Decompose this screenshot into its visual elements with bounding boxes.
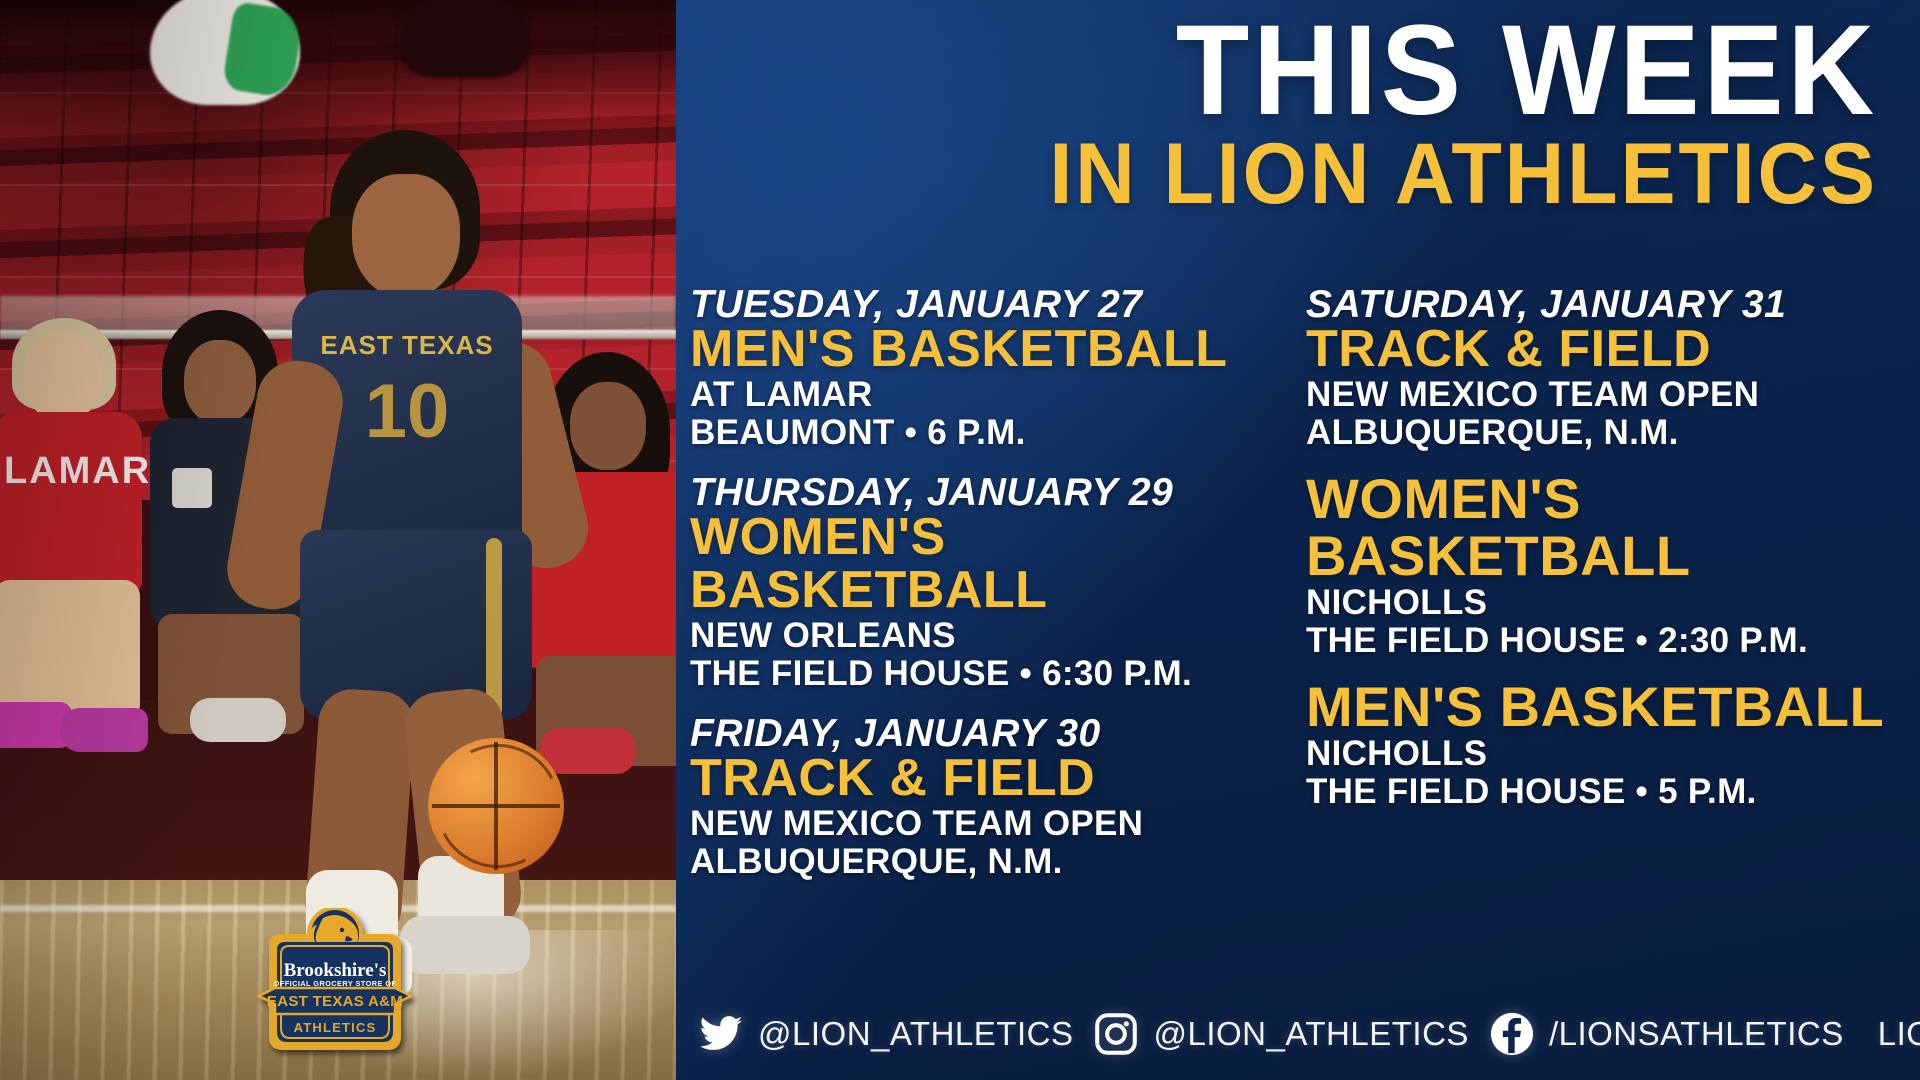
social-footer: @LION_ATHLETICS @LION_ATHLETICS / (676, 988, 1920, 1080)
event-item: TUESDAY, JANUARY 27 MEN'S BASKETBALL AT … (690, 284, 1288, 452)
event-item: THURSDAY, JANUARY 29 WOMEN'S BASKETBALL … (690, 472, 1288, 693)
twitter-handle: @LION_ATHLETICS (758, 1015, 1073, 1053)
event-item: FRIDAY, JANUARY 30 TRACK & FIELD NEW MEX… (690, 713, 1288, 881)
event-item: SATURDAY, JANUARY 31 TRACK & FIELD NEW M… (1306, 284, 1904, 452)
event-sport: WOMEN'S BASKETBALL (690, 511, 1288, 617)
headline-block: THIS WEEK IN LION ATHLETICS (676, 6, 1878, 217)
instagram-camera-icon[interactable] (1093, 1011, 1139, 1057)
schedule-columns: TUESDAY, JANUARY 27 MEN'S BASKETBALL AT … (690, 284, 1904, 901)
badge-school: EAST TEXAS A&M (267, 993, 403, 1010)
event-sport: MEN'S BASKETBALL (690, 323, 1288, 376)
twitter-bird-icon[interactable] (698, 1011, 744, 1057)
event-sport: MEN'S BASKETBALL (1306, 678, 1904, 735)
instagram-handle: @LION_ATHLETICS (1153, 1015, 1468, 1053)
schedule-panel: THIS WEEK IN LION ATHLETICS TUESDAY, JAN… (676, 0, 1920, 1080)
badge-division: ATHLETICS (294, 1020, 377, 1035)
badge-tagline: OFFICIAL GROCERY STORE OF (274, 979, 397, 988)
event-opponent: NEW MEXICO TEAM OPEN (1306, 376, 1904, 414)
event-sport: TRACK & FIELD (690, 752, 1288, 805)
headline-primary: THIS WEEK (748, 6, 1878, 137)
event-opponent: NICHOLLS (1306, 735, 1904, 773)
instagram-link[interactable]: @LION_ATHLETICS (1093, 1011, 1468, 1057)
event-sport: TRACK & FIELD (1306, 323, 1904, 376)
sponsor-badge: Brookshire's OFFICIAL GROCERY STORE OF E… (245, 908, 425, 1074)
facebook-handle: /LIONSATHLETICS (1549, 1015, 1844, 1053)
event-item: MEN'S BASKETBALL NICHOLLS THE FIELD HOUS… (1306, 678, 1904, 811)
headline-secondary: IN LION ATHLETICS (724, 131, 1878, 217)
facebook-link[interactable]: /LIONSATHLETICS (1489, 1011, 1844, 1057)
schedule-column-left: TUESDAY, JANUARY 27 MEN'S BASKETBALL AT … (690, 284, 1288, 901)
graphic-canvas: LAMAR EAST TEXAS (0, 0, 1920, 1080)
badge-brand: Brookshire's (284, 960, 387, 981)
schedule-column-right: SATURDAY, JANUARY 31 TRACK & FIELD NEW M… (1306, 284, 1904, 901)
event-venue-time: THE FIELD HOUSE • 6:30 P.M. (690, 655, 1288, 693)
event-venue-time: BEAUMONT • 6 P.M. (690, 414, 1288, 452)
event-venue-time: THE FIELD HOUSE • 2:30 P.M. (1306, 622, 1904, 660)
brookshires-badge-svg: Brookshire's OFFICIAL GROCERY STORE OF E… (245, 908, 425, 1074)
event-venue-time: ALBUQUERQUE, N.M. (690, 843, 1288, 881)
facebook-f-icon[interactable] (1489, 1011, 1535, 1057)
event-venue-time: ALBUQUERQUE, N.M. (1306, 414, 1904, 452)
event-sport: WOMEN'S BASKETBALL (1306, 470, 1904, 584)
event-opponent: NEW ORLEANS (690, 617, 1288, 655)
event-item: WOMEN'S BASKETBALL NICHOLLS THE FIELD HO… (1306, 470, 1904, 660)
event-opponent: NICHOLLS (1306, 584, 1904, 622)
event-venue-time: THE FIELD HOUSE • 5 P.M. (1306, 773, 1904, 811)
event-opponent: AT LAMAR (690, 376, 1288, 414)
website-url[interactable]: LIONATHLETICS.COM (1878, 1015, 1920, 1053)
event-opponent: NEW MEXICO TEAM OPEN (690, 805, 1288, 843)
twitter-link[interactable]: @LION_ATHLETICS (698, 1011, 1073, 1057)
